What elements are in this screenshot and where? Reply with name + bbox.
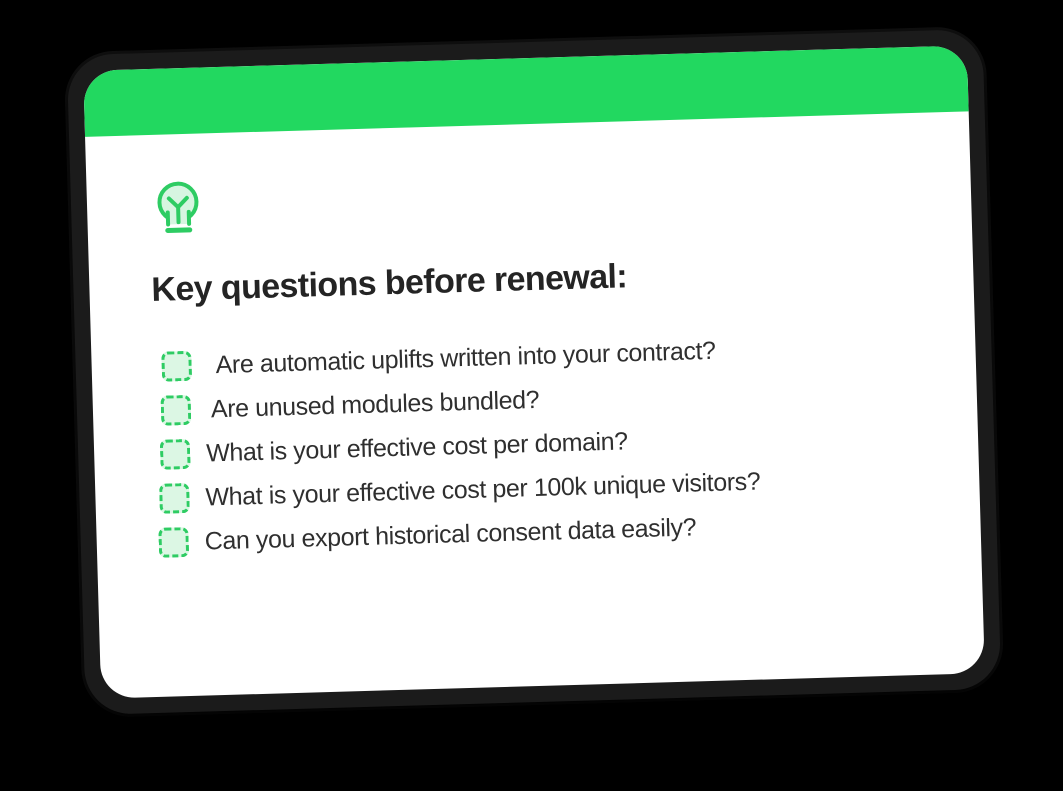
checkbox-1[interactable] [161,351,192,382]
info-card: Key questions before renewal: Are automa… [83,45,985,698]
list-item[interactable]: What is your effective cost per 100k uni… [159,462,926,514]
lightbulb-icon [150,177,206,239]
checkbox-3[interactable] [160,439,191,470]
page-title: Key questions before renewal: [151,249,920,310]
list-item-label: What is your effective cost per domain? [206,427,628,468]
list-item[interactable]: Can you export historical consent data e… [158,506,927,558]
list-item-label: Are automatic uplifts written into your … [215,336,716,379]
list-item[interactable]: What is your effective cost per domain? [160,418,925,470]
card-content: Key questions before renewal: Are automa… [85,111,985,698]
checkbox-5[interactable] [158,527,189,558]
list-item-label: Can you export historical consent data e… [204,513,696,556]
checkbox-4[interactable] [159,483,190,514]
page-background: Key questions before renewal: Are automa… [0,0,1063,791]
list-item-label: Are unused modules bundled? [211,385,540,423]
list-item[interactable]: Are automatic uplifts written into your … [161,330,922,382]
card-container: Key questions before renewal: Are automa… [67,29,1002,715]
checkbox-2[interactable] [161,395,192,426]
key-questions-checklist: Are automatic uplifts written into your … [153,330,927,558]
list-item-label: What is your effective cost per 100k uni… [205,467,761,512]
list-item[interactable]: Are unused modules bundled? [161,374,924,426]
